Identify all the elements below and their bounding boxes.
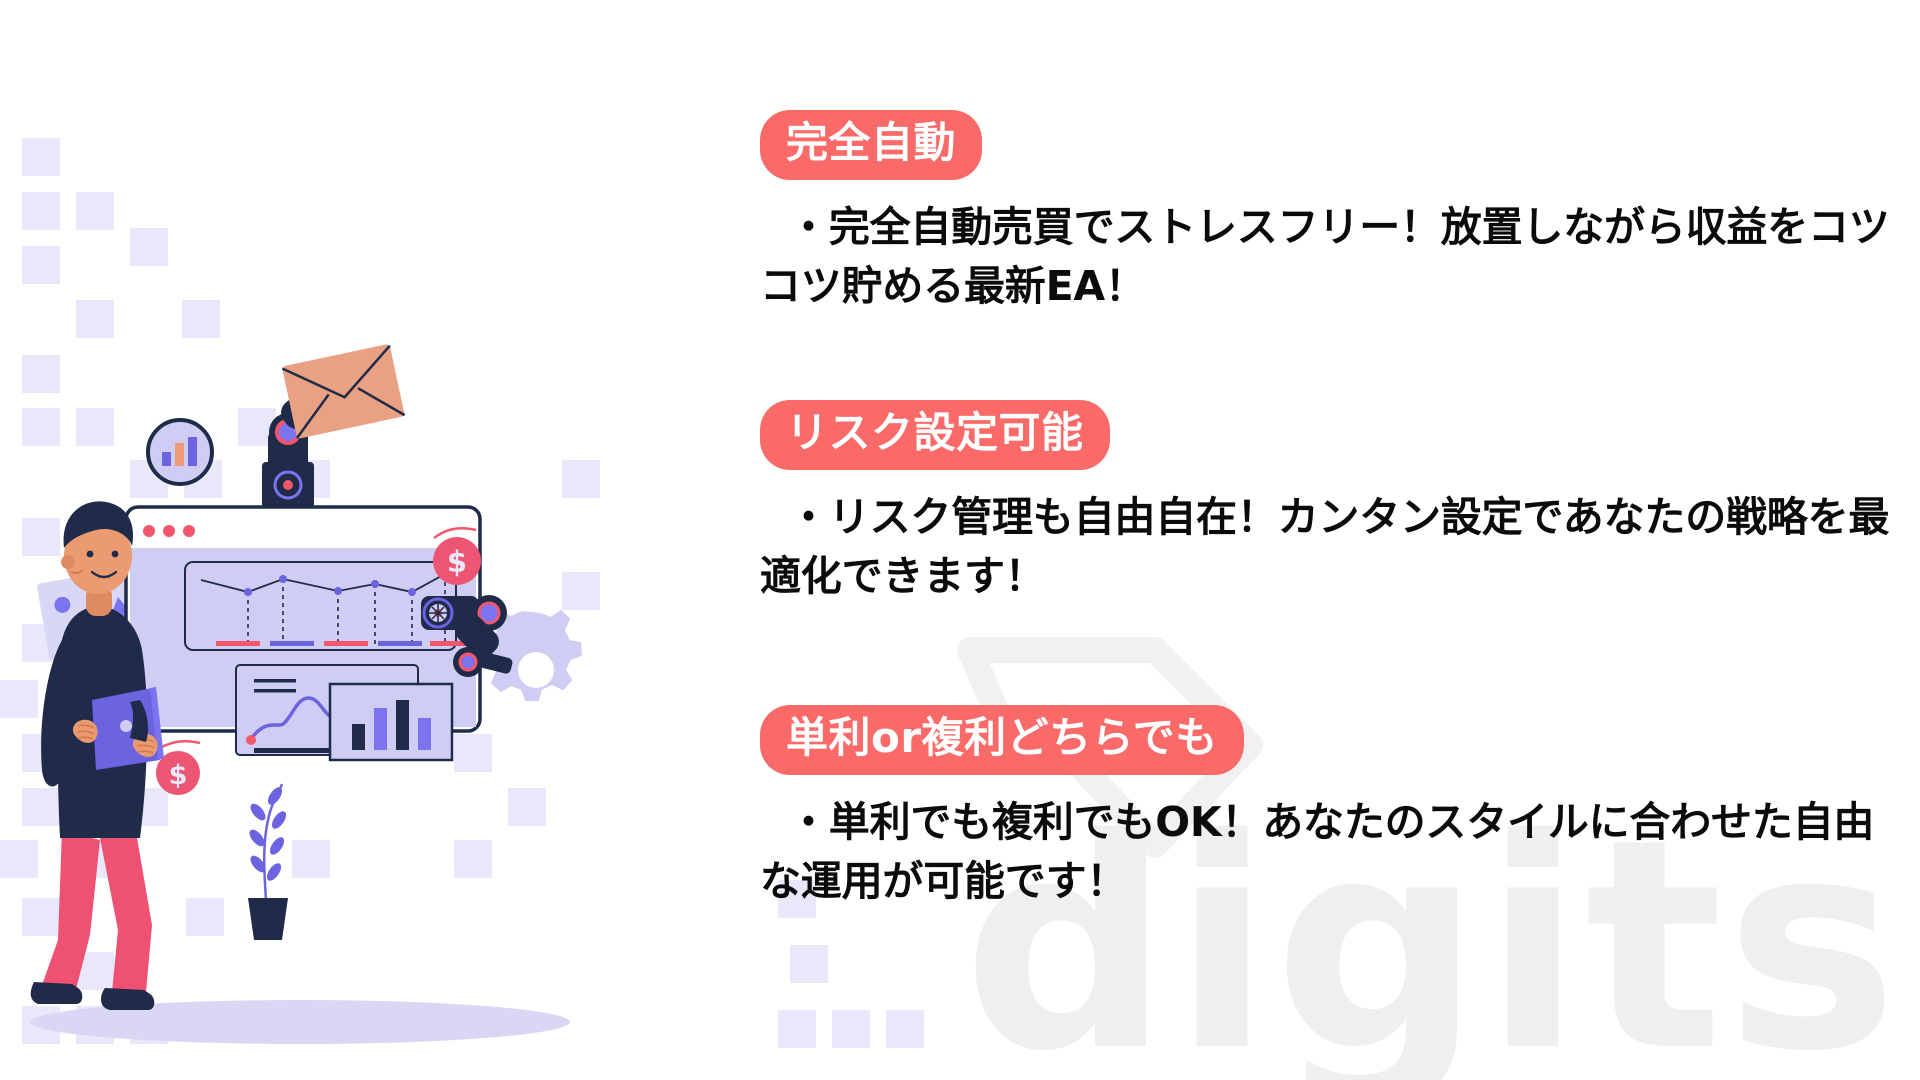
automated-trading-illustration: $ $ xyxy=(0,0,760,1080)
window-dot-2 xyxy=(163,525,175,537)
mini-bar-chart-card xyxy=(330,684,452,760)
svg-text:$: $ xyxy=(447,545,467,579)
poster-canvas: digits xyxy=(0,0,1920,1080)
window-dot-1 xyxy=(143,525,155,537)
feature-body-3: ・単利でも複利でもOK！あなたのスタイルに合わせた自由な運用が可能です！ xyxy=(760,793,1920,912)
window-dot-3 xyxy=(183,525,195,537)
feature-body-1: ・完全自動売買でストレスフリー！放置しながら収益をコツコツ貯める最新EA！ xyxy=(760,198,1920,317)
feature-body-2: ・リスク管理も自由自在！カンタン設定であなたの戦略を最適化できます！ xyxy=(760,488,1920,607)
feature-section-3: 単利or複利どちらでも ・単利でも複利でもOK！あなたのスタイルに合わせた自由な… xyxy=(760,705,1920,911)
laptop-icon xyxy=(92,687,164,770)
svg-text:$: $ xyxy=(169,760,188,791)
feature-list: 完全自動 ・完全自動売買でストレスフリー！放置しながら収益をコツコツ貯める最新E… xyxy=(760,0,1920,1080)
feature-section-1: 完全自動 ・完全自動売買でストレスフリー！放置しながら収益をコツコツ貯める最新E… xyxy=(760,110,1920,316)
potted-plant xyxy=(247,784,289,940)
feature-badge-2: リスク設定可能 xyxy=(760,400,1110,470)
feature-badge-1: 完全自動 xyxy=(760,110,982,180)
feature-section-2: リスク設定可能 ・リスク管理も自由自在！カンタン設定であなたの戦略を最適化できま… xyxy=(760,400,1920,606)
feature-badge-3: 単利or複利どちらでも xyxy=(760,705,1244,775)
robot-arm-envelope xyxy=(262,344,405,508)
bar-chart-badge-icon xyxy=(148,420,212,484)
